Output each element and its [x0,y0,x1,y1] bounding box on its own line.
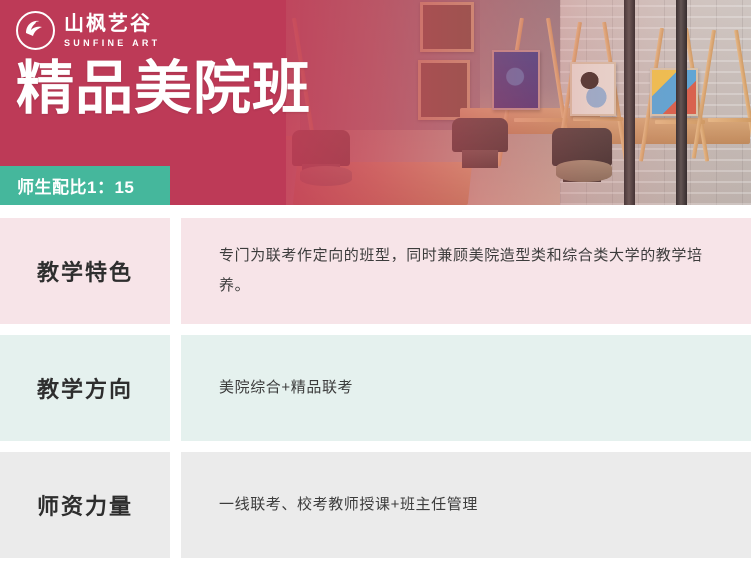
row-label-cell: 教学方向 [0,335,170,441]
brand-logo: 山枫艺谷 SUNFINE ART [16,11,160,50]
row-label-cell: 教学特色 [0,218,170,324]
row-label: 师资力量 [37,489,133,521]
info-table: 教学特色 专门为联考作定向的班型，同时兼顾美院造型类和综合类大学的教学培养。 教… [0,205,751,569]
sunfine-circular-emblem-icon [16,11,55,50]
table-row: 教学特色 专门为联考作定向的班型，同时兼顾美院造型类和综合类大学的教学培养。 [0,218,751,324]
table-row: 师资力量 一线联考、校考教师授课+班主任管理 [0,452,751,558]
hero-banner: 山枫艺谷 SUNFINE ART 精品美院班 师生配比1：15 [0,0,751,205]
row-label-cell: 师资力量 [0,452,170,558]
row-value-cell: 一线联考、校考教师授课+班主任管理 [181,452,751,558]
row-value: 美院综合+精品联考 [219,373,353,403]
promo-page: 山枫艺谷 SUNFINE ART 精品美院班 师生配比1：15 教学特色 专门为… [0,0,751,577]
row-label: 教学特色 [37,255,133,287]
brand-name-en: SUNFINE ART [64,39,160,48]
row-value: 专门为联考作定向的班型，同时兼顾美院造型类和综合类大学的教学培养。 [219,241,723,301]
row-value: 一线联考、校考教师授课+班主任管理 [219,490,478,520]
table-row: 教学方向 美院综合+精品联考 [0,335,751,441]
row-label: 教学方向 [37,372,133,404]
ratio-badge-label: 师生配比1：15 [17,173,134,198]
row-value-cell: 美院综合+精品联考 [181,335,751,441]
page-title: 精品美院班 [16,60,311,118]
row-value-cell: 专门为联考作定向的班型，同时兼顾美院造型类和综合类大学的教学培养。 [181,218,751,324]
brand-name-cn: 山枫艺谷 [64,14,160,34]
student-teacher-ratio-badge: 师生配比1：15 [0,166,170,205]
